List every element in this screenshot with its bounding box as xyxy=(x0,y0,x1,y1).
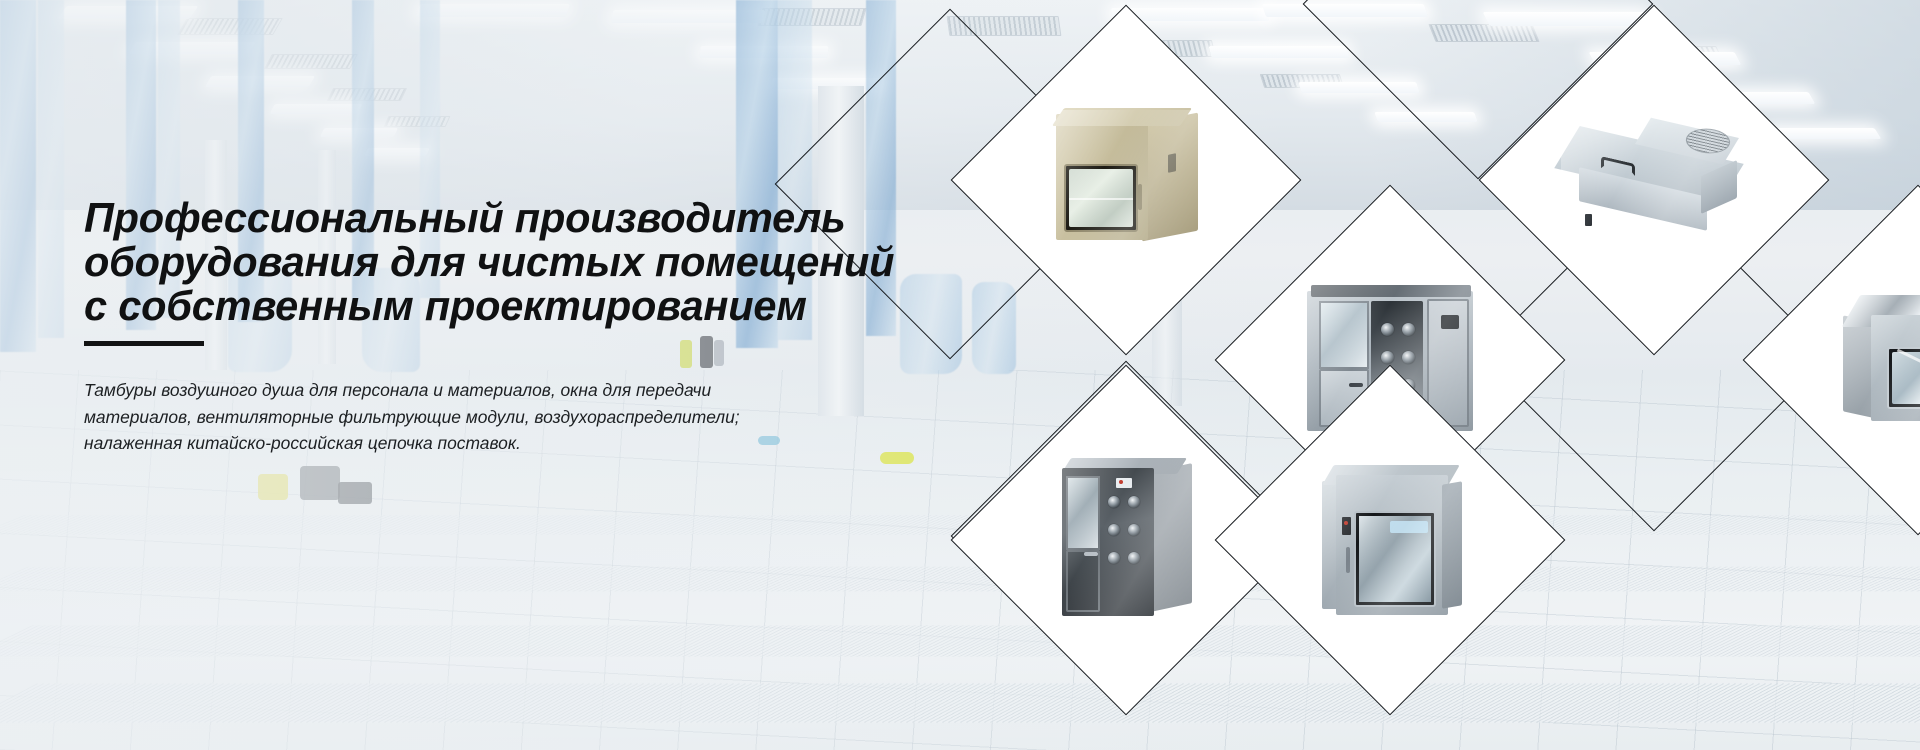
control-panel xyxy=(1342,517,1351,535)
box-top-panel xyxy=(1052,108,1192,126)
box-side-panel xyxy=(1142,113,1198,242)
product-image-fan-filter-unit xyxy=(1531,57,1777,303)
page-title: Профессиональный производитель оборудова… xyxy=(84,196,944,328)
air-nozzle xyxy=(1108,524,1120,536)
air-nozzle xyxy=(1128,524,1140,536)
hero-copy-block: Профессиональный производитель оборудова… xyxy=(84,196,944,457)
indicator-led xyxy=(1344,521,1348,525)
air-nozzle xyxy=(1402,351,1415,364)
indicator-led xyxy=(1119,480,1123,484)
headline-line-2: оборудования для чистых помещений xyxy=(84,240,944,284)
control-panel xyxy=(1441,315,1459,329)
door-handle xyxy=(1138,184,1142,210)
air-nozzle xyxy=(1381,323,1394,336)
cleanroom-hero-banner: Профессиональный производитель оборудова… xyxy=(0,0,1920,750)
air-shower-top-rail xyxy=(1311,285,1471,297)
product-image-pass-box-large-glass xyxy=(1267,417,1513,663)
open-door-handle xyxy=(1084,552,1098,556)
air-nozzle xyxy=(1128,496,1140,508)
air-shower-left-door-glass xyxy=(1319,301,1369,369)
cabinet-side-panel xyxy=(1442,481,1462,609)
description-line-2: материалов, вентиляторные фильтрующие мо… xyxy=(84,404,844,431)
glass-reflection xyxy=(1390,521,1428,533)
window-shelf-line xyxy=(1069,198,1133,200)
control-keypad xyxy=(1168,153,1176,173)
accent-underline xyxy=(84,341,204,346)
description-line-1: Тамбуры воздушного душа для персонала и … xyxy=(84,377,844,404)
product-image-pass-through-box-beige xyxy=(1003,57,1249,303)
headline-line-1: Профессиональный производитель xyxy=(84,196,944,240)
product-diamond-collage xyxy=(888,0,1920,750)
door-handle xyxy=(1346,547,1350,573)
ffu-mounting-foot xyxy=(1585,214,1592,226)
air-nozzle xyxy=(1402,323,1415,336)
air-nozzle xyxy=(1108,496,1120,508)
air-nozzle xyxy=(1381,351,1394,364)
open-door-glass xyxy=(1066,476,1100,550)
air-nozzle xyxy=(1108,552,1120,564)
left-door-handle xyxy=(1349,383,1363,387)
hero-description: Тамбуры воздушного душа для персонала и … xyxy=(84,377,844,457)
headline-line-3: с собственным проектированием xyxy=(84,284,944,328)
open-door-panel xyxy=(1066,550,1100,612)
description-line-3: налаженная китайско-российская цепочка п… xyxy=(84,430,844,457)
product-image-pass-through-box-steel xyxy=(1795,237,1920,483)
air-nozzle xyxy=(1128,552,1140,564)
diamond-tile-pass-box-large-glass[interactable] xyxy=(1215,365,1566,716)
product-image-air-shower-single xyxy=(1003,417,1249,663)
